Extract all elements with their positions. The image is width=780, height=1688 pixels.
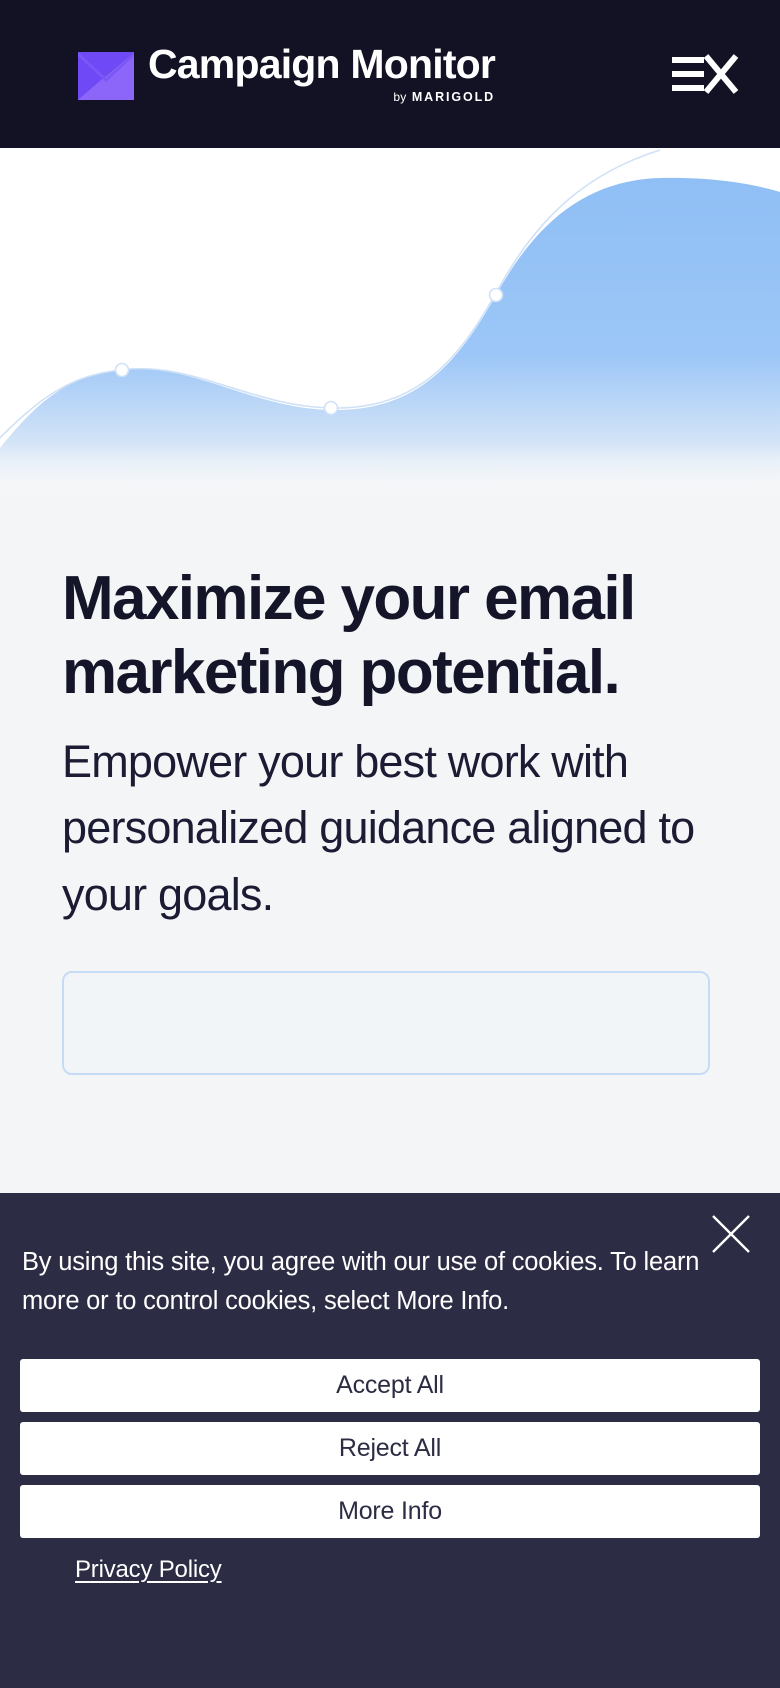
hero-subtitle: Empower your best work with personalized… <box>62 729 702 929</box>
brand-by-label: by <box>393 90 406 104</box>
brand-name: Campaign Monitor <box>148 44 495 85</box>
site-header: Campaign Monitor by MARIGOLD <box>0 0 780 148</box>
brand-parent-name: MARIGOLD <box>412 90 495 104</box>
more-info-button[interactable]: More Info <box>20 1485 760 1538</box>
cookie-message: By using this site, you agree with our u… <box>20 1243 720 1321</box>
hamburger-close-menu-icon[interactable] <box>668 44 740 104</box>
close-x-icon[interactable] <box>704 1207 758 1261</box>
hero-wave-graphic <box>0 148 780 500</box>
accept-all-button[interactable]: Accept All <box>20 1359 760 1412</box>
reject-all-button[interactable]: Reject All <box>20 1422 760 1475</box>
page-title: Maximize your email marketing potential. <box>62 562 682 711</box>
cookie-actions: Accept All Reject All More Info <box>20 1359 760 1538</box>
hero-section: Maximize your email marketing potential.… <box>0 500 780 1075</box>
email-input[interactable] <box>62 971 710 1075</box>
brand-logo[interactable]: Campaign Monitor by MARIGOLD <box>78 44 495 104</box>
cookie-consent-banner: By using this site, you agree with our u… <box>0 1193 780 1688</box>
privacy-policy-row: Privacy Policy <box>20 1556 760 1584</box>
brand-parent-company: by MARIGOLD <box>393 90 495 104</box>
envelope-chevron-logo-icon <box>78 52 134 100</box>
privacy-policy-link[interactable]: Privacy Policy <box>75 1556 222 1583</box>
